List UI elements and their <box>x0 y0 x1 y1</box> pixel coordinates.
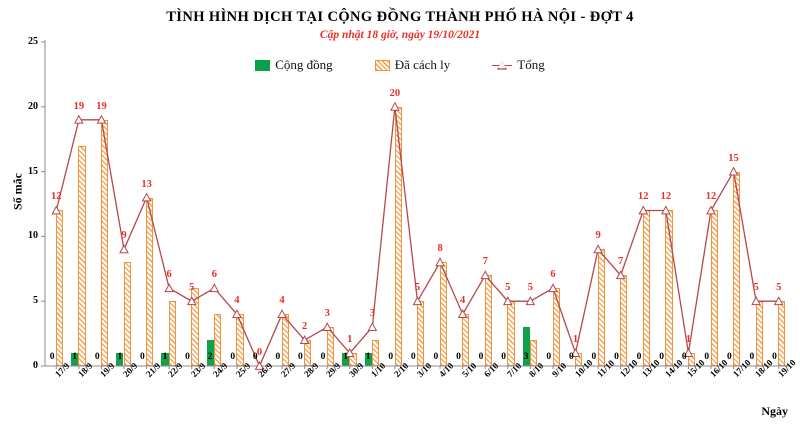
total-value-label: 6 <box>157 269 181 280</box>
total-value-label: 5 <box>496 282 520 293</box>
total-value-label: 5 <box>744 282 768 293</box>
community-value-label: 0 <box>653 352 671 362</box>
total-value-label: 4 <box>225 295 249 306</box>
axis-lines <box>41 40 790 369</box>
total-marker <box>120 245 128 252</box>
total-value-label: 6 <box>202 269 226 280</box>
total-value-label: 9 <box>586 230 610 241</box>
community-value-label: 1 <box>359 352 377 362</box>
y-tick-label: 20 <box>8 101 38 112</box>
total-value-label: 7 <box>473 256 497 267</box>
total-value-label: 20 <box>383 88 407 99</box>
total-value-label: 1 <box>338 334 362 345</box>
community-value-label: 0 <box>382 352 400 362</box>
y-tick-label: 10 <box>8 230 38 241</box>
total-value-label: 3 <box>315 308 339 319</box>
community-value-label: 0 <box>291 352 309 362</box>
community-value-label: 3 <box>517 352 535 362</box>
total-value-label: 1 <box>676 334 700 345</box>
total-value-label: 5 <box>180 282 204 293</box>
community-value-label: 1 <box>337 352 355 362</box>
community-value-label: 0 <box>495 352 513 362</box>
total-line-markers <box>52 103 782 370</box>
total-value-label: 3 <box>360 308 384 319</box>
community-value-label: 0 <box>404 352 422 362</box>
community-value-label: 0 <box>269 352 287 362</box>
total-value-label: 8 <box>428 243 452 254</box>
community-value-label: 1 <box>156 352 174 362</box>
total-marker <box>707 206 715 213</box>
community-value-label: 0 <box>607 352 625 362</box>
community-value-label: 0 <box>698 352 716 362</box>
total-value-label: 15 <box>722 153 746 164</box>
total-value-label: 4 <box>451 295 475 306</box>
total-marker <box>143 194 151 201</box>
community-value-label: 0 <box>43 352 61 362</box>
total-marker <box>549 284 557 291</box>
y-tick-label: 15 <box>8 166 38 177</box>
total-value-label: 12 <box>44 191 68 202</box>
total-value-label: 13 <box>135 179 159 190</box>
total-value-label: 0 <box>247 347 271 358</box>
y-tick-label: 25 <box>8 36 38 47</box>
total-marker <box>52 206 60 213</box>
community-value-label: 0 <box>630 352 648 362</box>
total-marker <box>459 310 467 317</box>
total-value-label: 1 <box>564 334 588 345</box>
community-value-label: 0 <box>585 352 603 362</box>
total-line-path <box>56 107 778 366</box>
total-value-label: 12 <box>699 191 723 202</box>
total-marker <box>323 323 331 330</box>
total-value-label: 5 <box>406 282 430 293</box>
community-value-label: 1 <box>111 352 129 362</box>
total-value-label: 9 <box>112 230 136 241</box>
total-value-label: 12 <box>631 191 655 202</box>
total-marker <box>391 103 399 110</box>
community-value-label: 0 <box>766 352 784 362</box>
community-value-label: 0 <box>427 352 445 362</box>
total-marker <box>210 284 218 291</box>
total-marker <box>188 297 196 304</box>
total-value-label: 4 <box>270 295 294 306</box>
community-value-label: 0 <box>179 352 197 362</box>
community-value-label: 0 <box>449 352 467 362</box>
total-value-label: 5 <box>518 282 542 293</box>
community-value-label: 0 <box>540 352 558 362</box>
community-value-label: 0 <box>224 352 242 362</box>
community-value-label: 0 <box>720 352 738 362</box>
total-value-label: 2 <box>293 321 317 332</box>
community-value-label: 0 <box>314 352 332 362</box>
community-value-label: 0 <box>675 352 693 362</box>
community-value-label: 0 <box>743 352 761 362</box>
total-value-label: 7 <box>609 256 633 267</box>
community-value-label: 0 <box>133 352 151 362</box>
community-value-label: 2 <box>201 352 219 362</box>
community-value-label: 0 <box>88 352 106 362</box>
total-marker <box>368 323 376 330</box>
total-marker <box>481 271 489 278</box>
total-value-label: 19 <box>89 101 113 112</box>
total-value-label: 5 <box>767 282 791 293</box>
y-tick-label: 0 <box>8 360 38 371</box>
total-value-label: 19 <box>67 101 91 112</box>
total-marker <box>594 245 602 252</box>
community-value-label: 0 <box>472 352 490 362</box>
total-marker <box>165 284 173 291</box>
total-value-label: 12 <box>654 191 678 202</box>
total-marker <box>278 310 286 317</box>
y-tick-label: 5 <box>8 295 38 306</box>
total-marker <box>414 297 422 304</box>
total-marker <box>730 168 738 175</box>
community-value-label: 1 <box>66 352 84 362</box>
covid-chart: TÌNH HÌNH DỊCH TẠI CỘNG ĐỒNG THÀNH PHỐ H… <box>0 0 800 427</box>
total-value-label: 6 <box>541 269 565 280</box>
total-marker <box>436 258 444 265</box>
community-value-label: 0 <box>562 352 580 362</box>
